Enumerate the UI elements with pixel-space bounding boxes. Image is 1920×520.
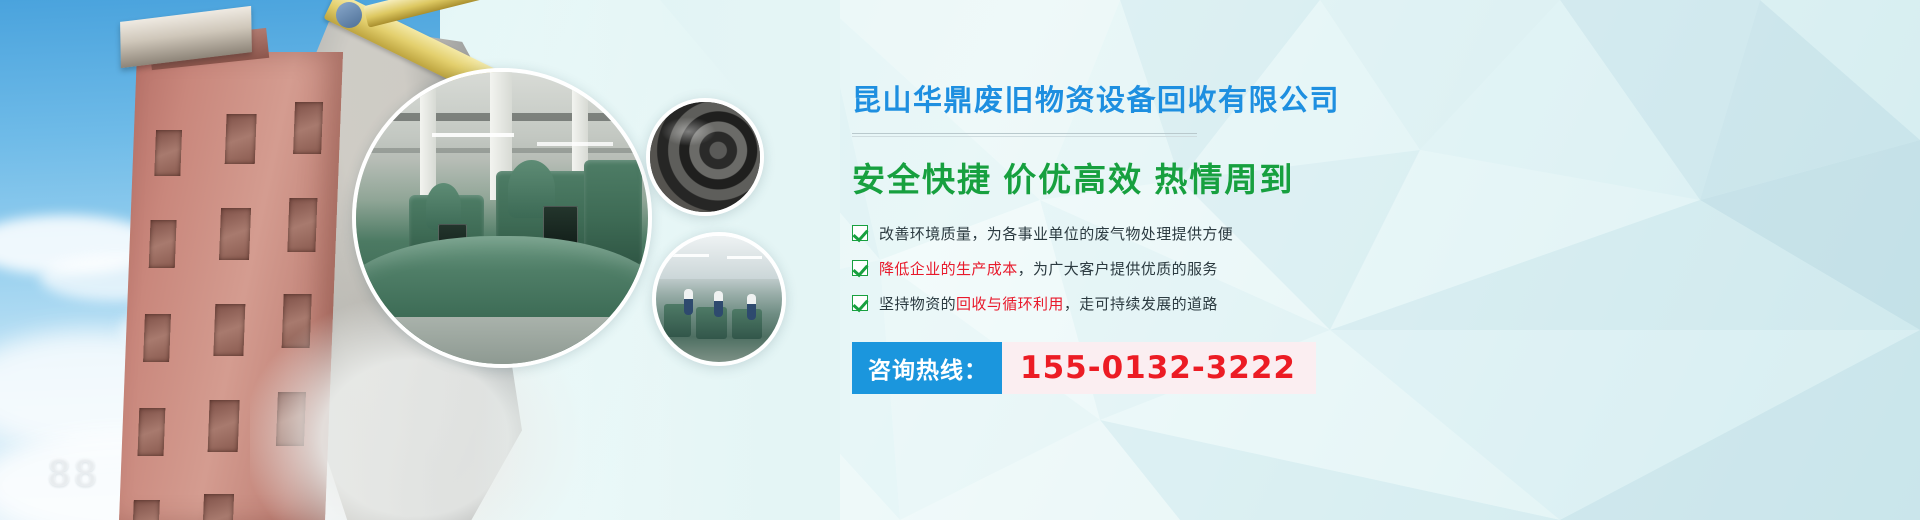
workshop-ceiling xyxy=(656,236,782,279)
chiller-equipment-photo xyxy=(352,68,652,368)
coil-highlight xyxy=(661,117,716,146)
hotline-label: 咨询热线： xyxy=(852,342,1002,394)
banner-text-content: 昆山华鼎废旧物资设备回收有限公司 安全快捷 价优高效 热情周到 改善环境质量，为… xyxy=(852,86,1852,394)
bullet-text-highlight: 降低企业的生产成本 xyxy=(879,258,1018,279)
plant-floor xyxy=(356,317,648,364)
hotline-phone-number[interactable]: 155-0132-3222 xyxy=(1002,342,1316,394)
workshop-interior xyxy=(656,236,782,362)
slogan: 安全快捷 价优高效 热情周到 xyxy=(852,153,1852,201)
check-icon xyxy=(852,295,868,311)
steel-coil xyxy=(650,102,760,212)
bullet-text-tail: ，走可持续发展的道路 xyxy=(1064,293,1218,314)
hotline-bar[interactable]: 咨询热线： 155-0132-3222 xyxy=(852,342,1316,394)
list-item: 坚持物资的 回收与循环利用 ，走可持续发展的道路 xyxy=(852,293,1852,314)
promo-banner: 88 xyxy=(0,0,1920,520)
check-icon xyxy=(852,225,868,241)
image-watermark: 88 xyxy=(48,451,101,496)
steel-coil-photo xyxy=(646,98,764,216)
bullet-text-highlight: 回收与循环利用 xyxy=(956,293,1064,314)
list-item: 降低企业的生产成本 ，为广大客户提供优质的服务 xyxy=(852,258,1852,279)
feature-list: 改善环境质量，为各事业单位的废气物处理提供方便 降低企业的生产成本 ，为广大客户… xyxy=(852,223,1852,314)
plant-interior xyxy=(356,72,648,364)
company-name: 昆山华鼎废旧物资设备回收有限公司 xyxy=(852,86,1852,118)
bullet-text-lead: 改善环境质量，为各事业单位的废气物处理提供方便 xyxy=(879,223,1233,244)
divider xyxy=(852,133,1197,137)
workshop-photo xyxy=(652,232,786,366)
check-icon xyxy=(852,260,868,276)
excavator-joint xyxy=(336,2,362,28)
bullet-text-lead: 坚持物资的 xyxy=(879,293,956,314)
bullet-text-tail: ，为广大客户提供优质的服务 xyxy=(1018,258,1218,279)
list-item: 改善环境质量，为各事业单位的废气物处理提供方便 xyxy=(852,223,1852,244)
